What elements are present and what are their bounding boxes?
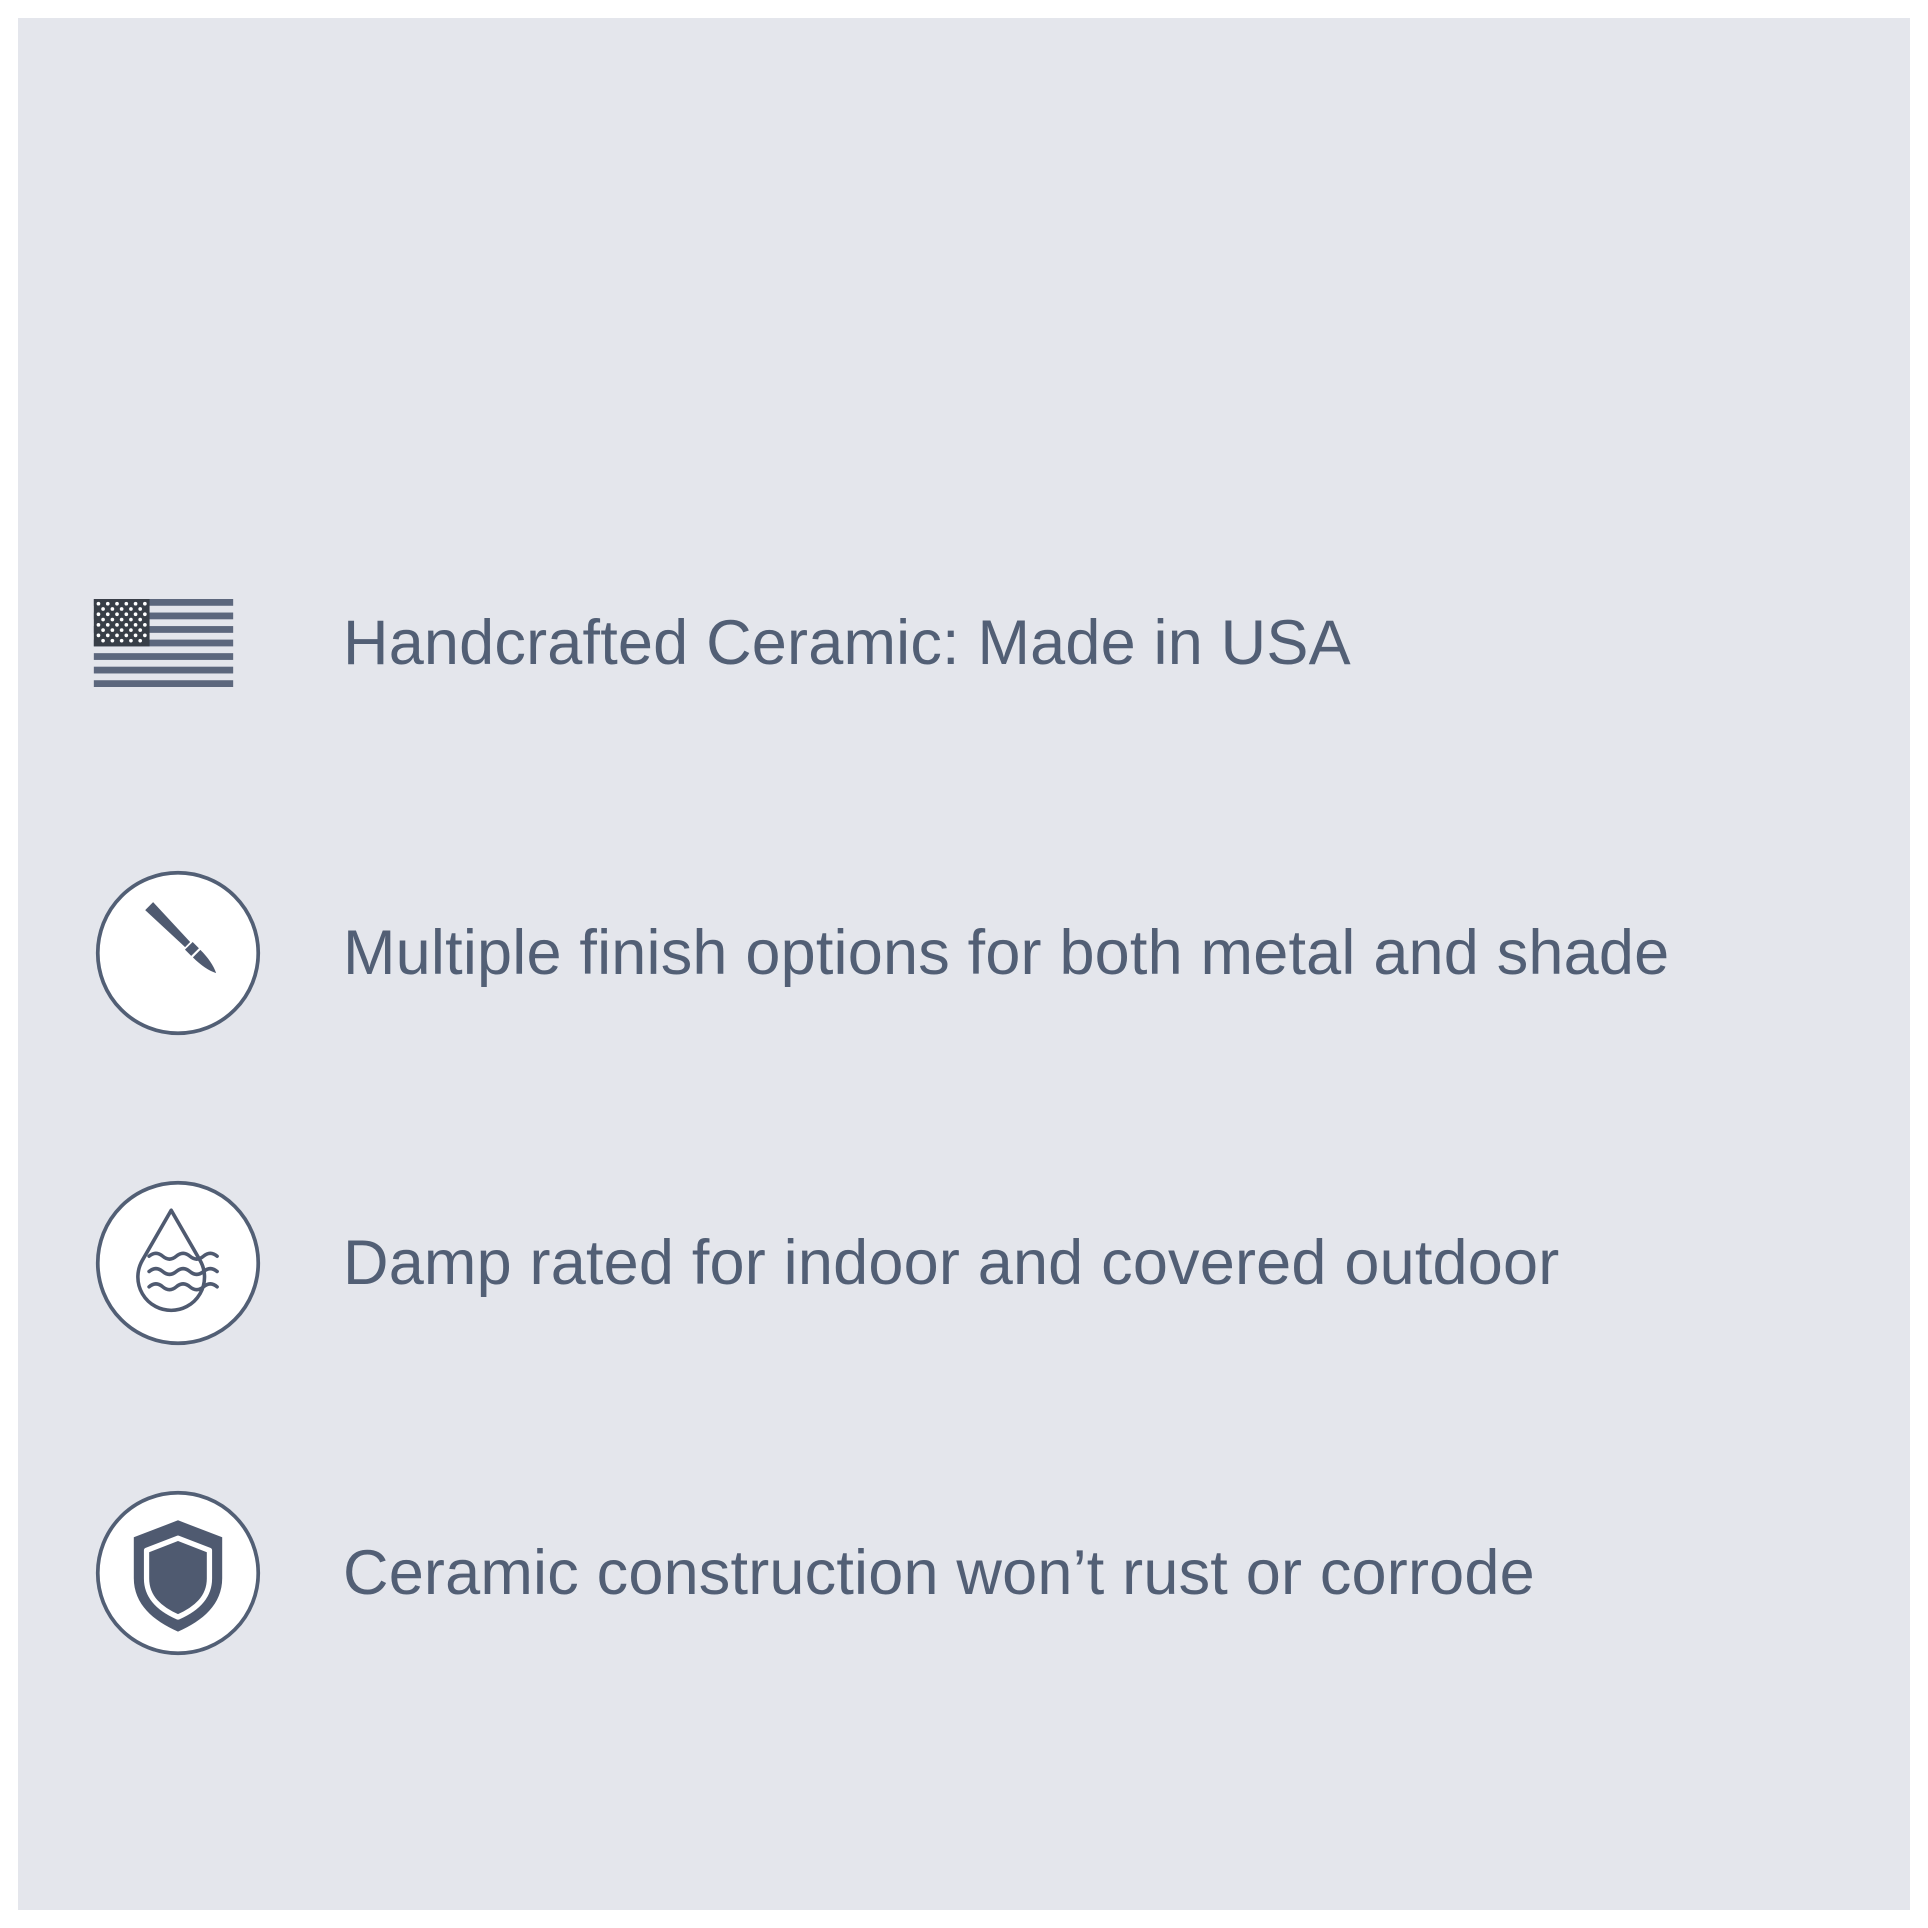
- feature-label: Ceramic construction won’t rust or corro…: [343, 1536, 1535, 1610]
- shield-icon: [93, 1488, 263, 1658]
- feature-icon-slot: [93, 863, 343, 1043]
- feature-row: Handcrafted Ceramic: Made in USA: [93, 488, 1883, 798]
- feature-panel: Handcrafted Ceramic: Made in USA Mu: [18, 18, 1910, 1910]
- feature-label: Handcrafted Ceramic: Made in USA: [343, 606, 1351, 680]
- feature-icon-slot: [93, 553, 343, 733]
- feature-row: Multiple finish options for both metal a…: [93, 798, 1883, 1108]
- feature-row: Damp rated for indoor and covered outdoo…: [93, 1108, 1883, 1418]
- feature-icon-slot: [93, 1173, 343, 1353]
- water-drop-icon: [93, 1178, 263, 1348]
- feature-list: Handcrafted Ceramic: Made in USA Mu: [93, 488, 1883, 1728]
- feature-label: Damp rated for indoor and covered outdoo…: [343, 1226, 1559, 1300]
- feature-label: Multiple finish options for both metal a…: [343, 916, 1669, 990]
- usa-flag-icon: [93, 599, 234, 687]
- feature-icon-slot: [93, 1483, 343, 1663]
- paintbrush-icon: [93, 868, 263, 1038]
- feature-row: Ceramic construction won’t rust or corro…: [93, 1418, 1883, 1728]
